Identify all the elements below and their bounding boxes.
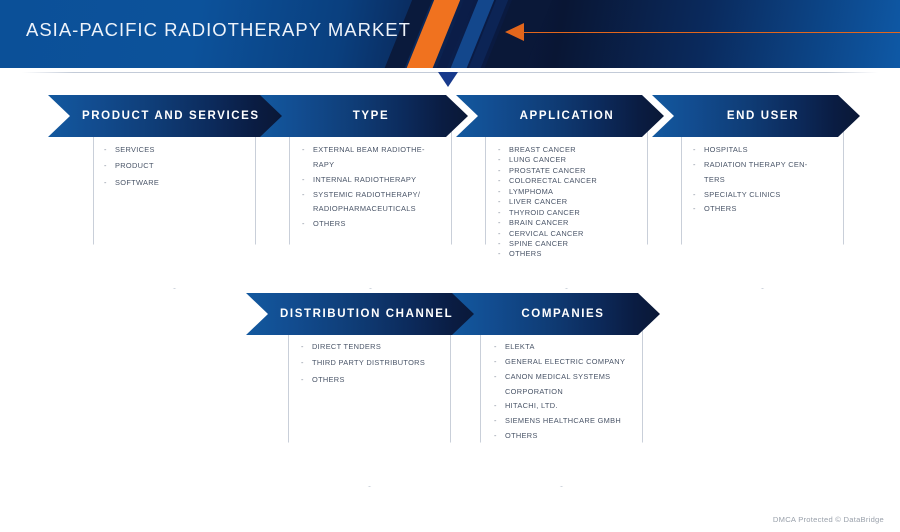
footer-credit: DMCA Protected © DataBridge (773, 515, 884, 524)
list-item: DIRECT TENDERS (295, 342, 460, 352)
list-item: CANON MEDICAL SYSTEMS (488, 372, 653, 382)
list-item: OTHERS (295, 375, 460, 385)
list-item-continuation: RAPY (296, 160, 456, 170)
list-item: INTERNAL RADIOTHERAPY (296, 175, 456, 185)
list-item: OTHERS (488, 431, 653, 441)
list-item: CERVICAL CANCER (492, 229, 652, 239)
list-item: SPECIALTY CLINICS (687, 190, 847, 200)
list-item: LYMPHOMA (492, 187, 652, 197)
infographic-canvas: ASIA-PACIFIC RADIOTHERAPY MARKET PRODUCT… (0, 0, 900, 532)
list-item: SOFTWARE (98, 178, 253, 188)
segment-banner-label: COMPANIES (452, 308, 660, 320)
header-banner: ASIA-PACIFIC RADIOTHERAPY MARKET (0, 0, 900, 68)
list-item: GENERAL ELECTRIC COMPANY (488, 357, 653, 367)
list-item: SERVICES (98, 145, 253, 155)
list-item: ELEKTA (488, 342, 653, 352)
list-item: RADIATION THERAPY CEN- (687, 160, 847, 170)
segment-list-end-user: HOSPITALS RADIATION THERAPY CEN- TERS SP… (687, 145, 847, 219)
segment-banner-companies[interactable]: COMPANIES (452, 293, 660, 335)
list-item: PROSTATE CANCER (492, 166, 652, 176)
list-item: HITACHI, LTD. (488, 401, 653, 411)
segment-banner-label: PRODUCT AND SERVICES (48, 110, 284, 122)
list-item: EXTERNAL BEAM RADIOTHE- (296, 145, 456, 155)
page-title: ASIA-PACIFIC RADIOTHERAPY MARKET (26, 19, 411, 41)
list-item: SPINE CANCER (492, 239, 652, 249)
segment-banner-end-user[interactable]: END USER (652, 95, 860, 137)
list-item: SIEMENS HEALTHCARE GMBH (488, 416, 653, 426)
list-item: OTHERS (296, 219, 456, 229)
segment-banner-application[interactable]: APPLICATION (456, 95, 664, 137)
segment-banner-type[interactable]: TYPE (260, 95, 468, 137)
list-item: PRODUCT (98, 161, 253, 171)
list-item: OTHERS (492, 249, 652, 259)
header-arrow-left-icon (505, 23, 524, 41)
list-item: COLORECTAL CANCER (492, 176, 652, 186)
segment-banner-label: TYPE (260, 110, 468, 122)
segment-banner-label: DISTRIBUTION CHANNEL (246, 308, 482, 320)
segment-banner-label: END USER (652, 110, 860, 122)
list-item-continuation: CORPORATION (488, 387, 653, 397)
segment-list-application: BREAST CANCER LUNG CANCER PROSTATE CANCE… (492, 145, 652, 260)
segment-list-type: EXTERNAL BEAM RADIOTHE- RAPY INTERNAL RA… (296, 145, 456, 234)
header-arrow-line (523, 32, 900, 33)
segment-list-product-and-services: SERVICES PRODUCT SOFTWARE (98, 145, 253, 194)
list-item-continuation: RADIOPHARMACEUTICALS (296, 204, 456, 214)
chevron-down-icon (438, 72, 458, 87)
segment-list-companies: ELEKTA GENERAL ELECTRIC COMPANY CANON ME… (488, 342, 653, 446)
list-item: BREAST CANCER (492, 145, 652, 155)
segment-banner-distribution-channel[interactable]: DISTRIBUTION CHANNEL (246, 293, 482, 335)
segment-banner-label: APPLICATION (456, 110, 664, 122)
list-item-continuation: TERS (687, 175, 847, 185)
list-item: THIRD PARTY DISTRIBUTORS (295, 358, 460, 368)
list-item: LIVER CANCER (492, 197, 652, 207)
list-item: THYROID CANCER (492, 208, 652, 218)
list-item: OTHERS (687, 204, 847, 214)
list-item: SYSTEMIC RADIOTHERAPY/ (296, 190, 456, 200)
list-item: BRAIN CANCER (492, 218, 652, 228)
segment-list-distribution-channel: DIRECT TENDERS THIRD PARTY DISTRIBUTORS … (295, 342, 460, 391)
list-item: HOSPITALS (687, 145, 847, 155)
list-item: LUNG CANCER (492, 155, 652, 165)
segment-banner-product-and-services[interactable]: PRODUCT AND SERVICES (48, 95, 284, 137)
